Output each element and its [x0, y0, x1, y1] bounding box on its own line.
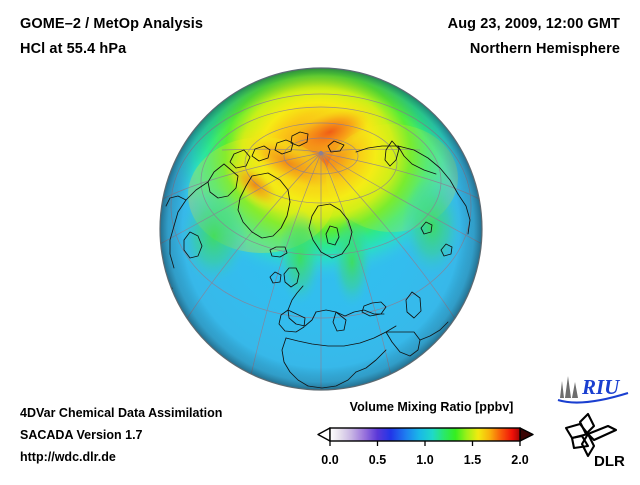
method-label: 4DVar Chemical Data Assimilation	[20, 402, 222, 424]
colorbar-right-arrow	[520, 428, 533, 441]
dlr-logo: DLR	[564, 412, 628, 470]
colorbar-ticks	[330, 441, 520, 446]
dlr-wordmark: DLR	[594, 453, 625, 470]
colorbar: Volume Mixing Ratio [ppbv] 0.0 0.5 1	[312, 400, 547, 471]
version-label: SACADA Version 1.7	[20, 424, 222, 446]
colorbar-tick-1: 0.5	[369, 453, 386, 467]
footer-text-block: 4DVar Chemical Data Assimilation SACADA …	[20, 402, 222, 468]
colorbar-tick-2: 1.0	[416, 453, 433, 467]
colorbar-tick-3: 1.5	[464, 453, 481, 467]
riu-towers-icon	[560, 376, 578, 398]
colorbar-title: Volume Mixing Ratio [ppbv]	[316, 400, 547, 414]
colorbar-svg	[312, 417, 547, 447]
dlr-mark-icon	[566, 414, 616, 456]
riu-wordmark: RIU	[581, 375, 621, 399]
logo-group: RIU DLR	[556, 372, 636, 476]
colorbar-tick-4: 2.0	[511, 453, 528, 467]
colorbar-tick-labels: 0.0 0.5 1.0 1.5 2.0	[312, 453, 547, 471]
colorbar-tick-0: 0.0	[321, 453, 338, 467]
colorbar-left-arrow	[318, 428, 330, 441]
colorbar-graphic-holder	[312, 417, 547, 452]
colorbar-ramp	[330, 428, 520, 441]
limb-shading	[160, 68, 482, 390]
website-link[interactable]: http://wdc.dlr.de	[20, 446, 222, 468]
riu-logo: RIU	[556, 372, 630, 406]
